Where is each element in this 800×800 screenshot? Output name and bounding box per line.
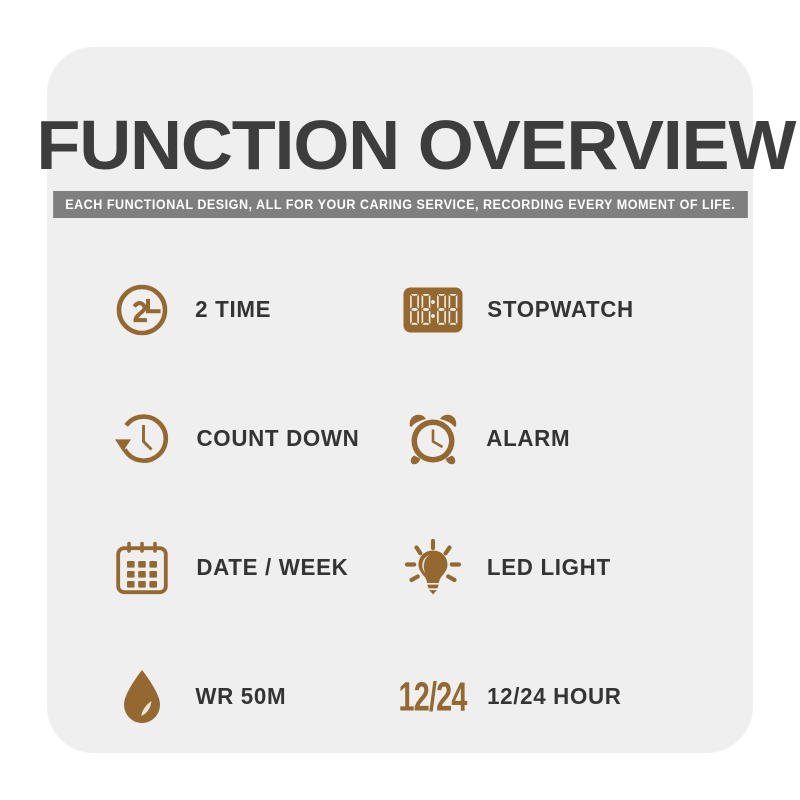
subtitle-bar: EACH FUNCTIONAL DESIGN, ALL FOR YOUR CAR… (47, 191, 753, 218)
feature-item-date-week: DATE / WEEK (109, 503, 400, 632)
feature-label: DATE / WEEK (196, 554, 348, 581)
feature-item-12-24-hour: 12/24 12/24 HOUR (400, 632, 691, 761)
feature-grid: 2 TIME (109, 245, 691, 761)
alarm-clock-icon (400, 406, 466, 472)
light-bulb-icon (400, 535, 466, 601)
feature-item-stopwatch: STOPWATCH (400, 245, 691, 374)
feature-label: LED LIGHT (487, 554, 611, 581)
feature-label: ALARM (486, 425, 570, 452)
feature-item-wr-50m: WR 50M (109, 632, 400, 761)
subtitle-text: EACH FUNCTIONAL DESIGN, ALL FOR YOUR CAR… (53, 191, 747, 218)
feature-label: WR 50M (195, 683, 286, 710)
feature-item-alarm: ALARM (400, 374, 691, 503)
count-down-clock-icon (109, 406, 175, 472)
feature-label: 12/24 HOUR (487, 683, 622, 710)
feature-item-led-light: LED LIGHT (400, 503, 691, 632)
feature-label: COUNT DOWN (197, 425, 360, 452)
feature-label: STOPWATCH (487, 296, 634, 323)
calendar-icon (109, 535, 175, 601)
header: FUNCTION OVERVIEW EACH FUNCTIONAL DESIGN… (47, 47, 753, 218)
water-drop-icon (109, 664, 175, 730)
feature-card: FUNCTION OVERVIEW EACH FUNCTIONAL DESIGN… (47, 47, 753, 753)
stopwatch-digital-icon (400, 277, 466, 343)
twelve-twentyfour-glyph: 12/24 (399, 673, 467, 720)
feature-item-count-down: COUNT DOWN (109, 374, 400, 503)
page-title: FUNCTION OVERVIEW (36, 47, 763, 177)
feature-item-2-time: 2 TIME (109, 245, 400, 374)
feature-label: 2 TIME (195, 296, 271, 323)
poster-canvas: FUNCTION OVERVIEW EACH FUNCTIONAL DESIGN… (0, 0, 800, 800)
two-time-clock-icon (109, 277, 175, 343)
twelve-twentyfour-icon: 12/24 (400, 664, 466, 730)
